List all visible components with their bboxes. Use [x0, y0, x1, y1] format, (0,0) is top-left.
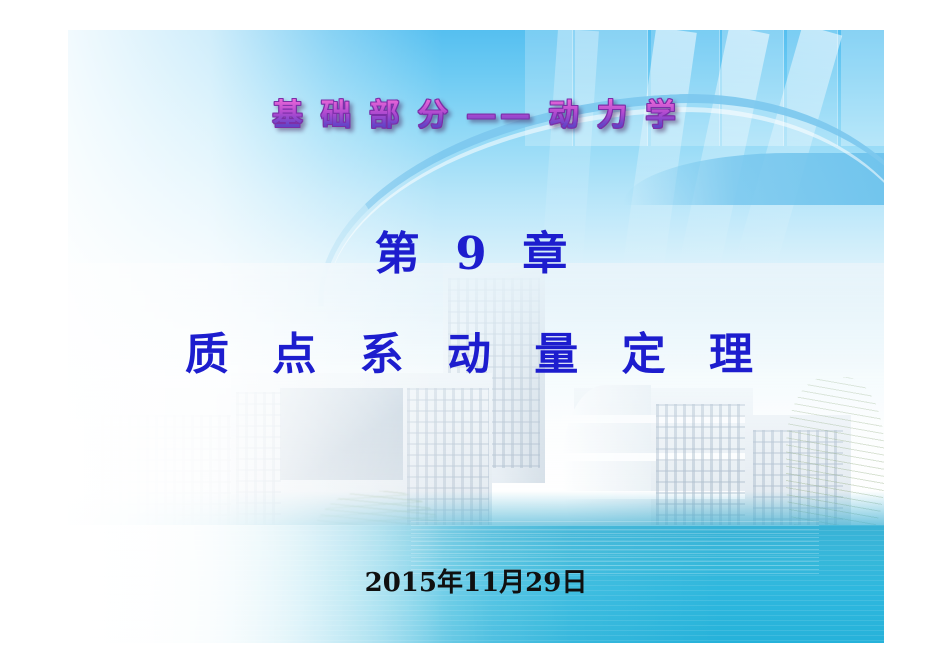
page-title: 质 点 系 动 量 定 理 [68, 318, 884, 382]
presentation-slide: 基 础 部 分 —— 动 力 学 第 9 章 质 点 系 动 量 定 理 201… [68, 30, 884, 643]
slide-text-layer: 基 础 部 分 —— 动 力 学 第 9 章 质 点 系 动 量 定 理 201… [68, 30, 884, 643]
slide-page: 基 础 部 分 —— 动 力 学 第 9 章 质 点 系 动 量 定 理 201… [0, 0, 950, 672]
chapter-number: 第 9 章 [68, 217, 884, 282]
section-title: 基 础 部 分 —— 动 力 学 [68, 90, 884, 134]
slide-date: 2015年11月29日 [68, 562, 884, 599]
